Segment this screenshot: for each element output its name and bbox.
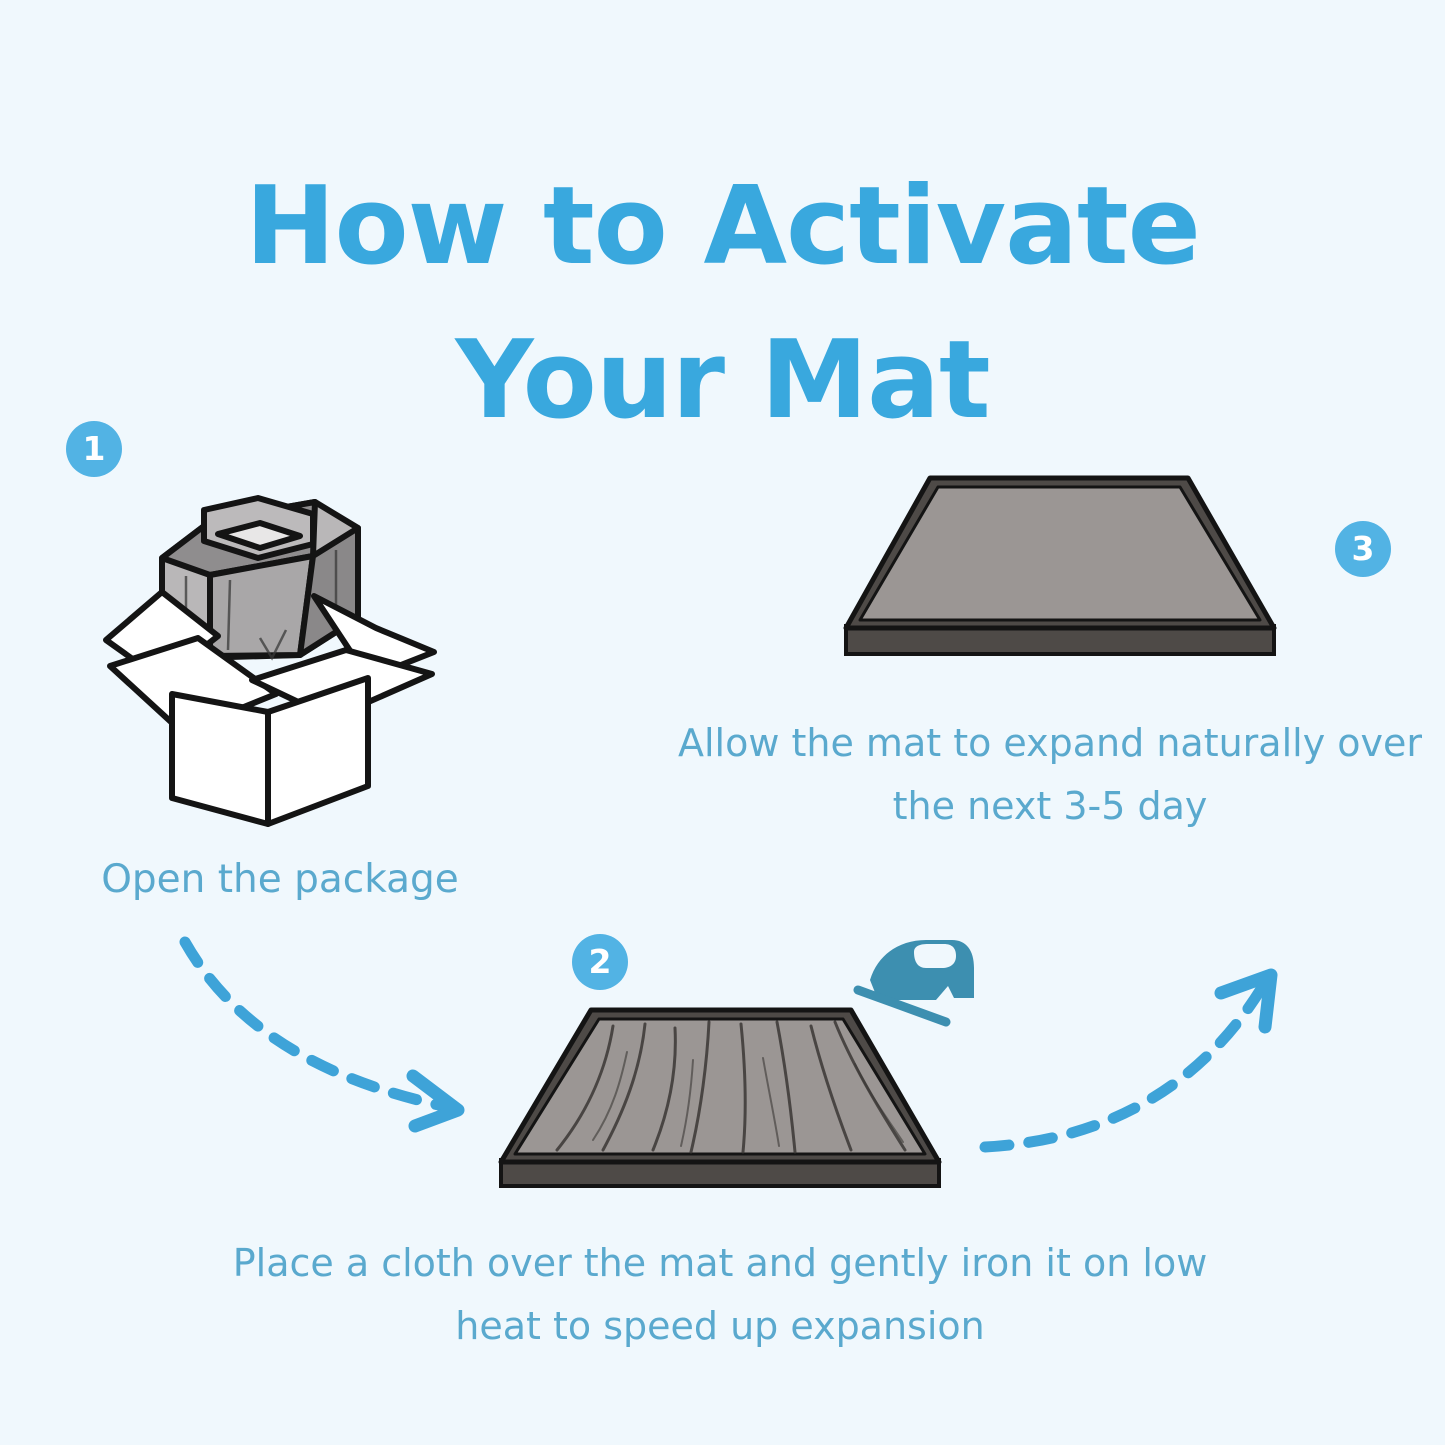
flat-mat-icon [840,470,1280,670]
dashed-arrow-icon [175,930,475,1130]
infographic-poster: How to Activate Your Mat 1 [0,0,1445,1445]
expanded-mat-illustration [840,470,1280,670]
dashed-arrow-icon [975,955,1295,1165]
mat-with-cloth-icon [495,1000,945,1205]
page-title: How to Activate Your Mat [0,150,1445,457]
step-1-caption: Open the package [30,848,530,912]
open-box-illustration [100,480,440,830]
title-line-1: How to Activate [245,164,1200,289]
arrow-step1-to-step2 [175,930,475,1130]
step-badge-2: 2 [572,934,628,990]
open-box-icon [100,480,440,830]
cloth-covered-mat-illustration [495,1000,945,1205]
title-line-2: Your Mat [0,304,1445,457]
step-badge-1: 1 [66,421,122,477]
step-2-caption: Place a cloth over the mat and gently ir… [215,1232,1225,1357]
step-3-caption: Allow the mat to expand naturally over t… [660,712,1440,837]
arrow-step2-to-step3 [975,955,1295,1165]
step-badge-3: 3 [1335,521,1391,577]
